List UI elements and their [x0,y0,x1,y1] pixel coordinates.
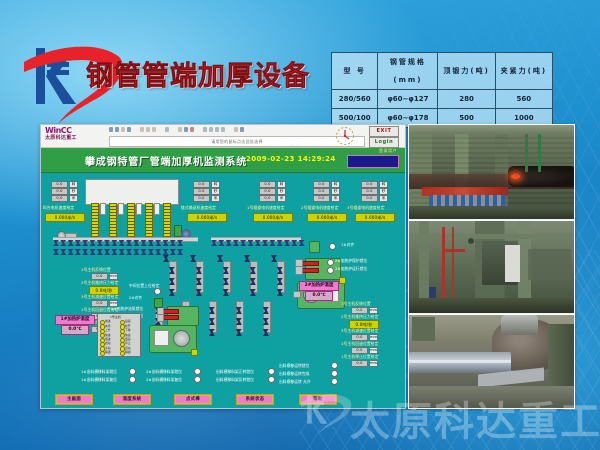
clamp-jaw [244,255,250,262]
table-row: 280/560 φ60~φ127 280 560 [332,90,553,109]
clamp-jaw [271,255,277,262]
roller [141,240,147,246]
readout-unit: 秒 [69,188,78,195]
readout-value: 0.0 [259,188,276,195]
param-unit: mm [369,334,378,341]
readout-value: 0.0 [259,195,276,202]
roller [111,240,117,246]
readout-value: 0.0 [313,188,330,195]
photo-column [408,124,573,407]
readout-value: 0.0 [361,181,378,188]
readout-unit: 米 [211,195,220,202]
kd-watermark-logo [300,387,356,439]
hmi-user-label: 登录用户 [379,148,397,154]
legend-label: 后退 [125,319,131,323]
status-lamp[interactable] [327,259,334,266]
roller-rail [53,237,198,242]
roller [104,249,110,255]
layer-icon[interactable] [209,127,213,132]
spec-col-pipe-size: 钢管规格(mm) [378,53,438,90]
status-lamp[interactable] [331,362,338,369]
readout-row: 0.0 秒 [51,188,78,195]
spec-col-clamp-force: 夹紧力(吨) [495,53,552,90]
legend-label: 前进 [105,319,111,323]
roller [133,240,139,246]
legend-label: 慢退 [125,337,131,341]
roller [177,249,183,255]
chain-column [127,203,135,237]
chain-column [91,203,99,237]
param-readout: 0.0 mm [351,347,378,354]
meter-setpoint[interactable]: 0.000米/s [253,213,293,222]
roller [60,249,66,255]
hmi-screenshot-panel: WinCC 太原科达重工 请用您的鼠标点击此处选择 EXIT Login [40,124,406,409]
param-unit: mm [109,273,118,280]
legend-label: 快退 [125,333,131,337]
param-value: 0.0 [91,273,108,280]
roller [97,240,103,246]
align-icon[interactable] [215,127,219,132]
button-point-rod[interactable]: 点式棒 [174,394,212,405]
wincc-toolbar: WinCC 太原科达重工 请用您的鼠标点击此处选择 EXIT Login [41,125,405,148]
heater-left-label: 1#加热炉温度 [55,315,95,325]
clamp-jaw [163,255,169,262]
roller [163,240,169,246]
press-dial [173,330,190,347]
roller [141,249,147,255]
meter-setpoint[interactable]: 0.000米/s [187,213,227,222]
roller [284,240,290,246]
readout-unit: 秒 [331,188,340,195]
lamp-label: 2#加热炉保护就位 [335,258,367,264]
lamp-label: 1#对齐 [341,242,354,248]
hmi-title-bar: 攀成钢特管厂管端加厚机监测系统 2009-02-23 14:29:24 登录用户 [41,148,405,173]
heater-head [157,314,164,322]
lamp-label: 2#出料横移料架复位 [146,377,182,383]
param-readout: 0.0 mm [351,307,378,314]
readout-row: 0.0 转 [361,181,388,188]
hmi-datetime: 2009-02-23 14:29:24 [246,155,336,163]
readout-unit: 米 [379,195,388,202]
roller [226,240,232,246]
watermark-text: 太原科达重工 [350,389,600,445]
roller [148,249,154,255]
valve-block [309,241,320,253]
heater-right-label: 2#加热炉温度 [299,281,339,291]
roller [269,240,275,246]
readout-row: 0.0 转 [313,181,340,188]
press-panel [154,330,169,346]
readout-unit: 米 [277,195,286,202]
roller [53,249,59,255]
chain-sensor [136,203,142,215]
roller [82,240,88,246]
roller [119,240,125,246]
status-lamp[interactable] [268,368,275,375]
readout-row: 0.0 转 [259,181,286,188]
readout-value: 0.0 [51,181,68,188]
roller [248,240,254,246]
watermark: 太原科达重工 [300,385,600,445]
cylinder-rod [209,301,217,333]
roller [233,240,239,246]
legend-label: 联锁 [105,350,111,354]
readout-value: 0.0 [361,188,378,195]
clamp-jaw [217,255,223,262]
lamp-label: 2#出料横移料架就位 [146,369,182,375]
meter-group-label: 1号辊道电机速度给定 [247,205,285,211]
readout-unit: 秒 [211,188,220,195]
hmi-mimic-diagram: 0.0 转 0.0 秒 0.0 米 料台电机速度给定 0.000米/s 0.0 [41,173,405,409]
button-system-status[interactable]: 系统状态 [236,394,274,405]
open-icon[interactable] [115,127,119,132]
lamp-label: 1#出料横移料架复位 [81,377,117,383]
readout-unit: 米 [331,195,340,202]
cylinder-rod [263,301,271,333]
roller [104,240,110,246]
param-value: 0.0 [351,307,368,314]
cylinder-rod [223,261,231,293]
readout-value: 0.0 [313,195,330,202]
wincc-brand: WinCC [45,126,105,135]
roller [68,240,74,246]
heater-right-value: 0.0℃ [305,291,333,301]
login-button[interactable]: Login [369,137,399,148]
roller [68,249,74,255]
readout-unit: 转 [211,181,220,188]
param-unit: mm [369,307,378,314]
button-main-screen[interactable]: 主画面 [55,394,93,405]
roller [163,249,169,255]
lamp-label: 出料横移运转就位 [279,363,309,369]
zoom-out-icon[interactable] [184,127,188,132]
lamp-label: 1#出料横移料架就位 [81,369,117,375]
status-lamp[interactable] [194,368,201,375]
spec-table-header-row: 型 号 钢管规格(mm) 顶锻力(吨) 夹紧力(吨) [332,53,553,90]
cylinder-rod [196,261,204,293]
roller [90,249,96,255]
param-value: 0.0 [91,300,108,307]
status-lamp[interactable] [331,370,338,377]
readout-value: 0.0 [193,195,210,202]
roller [155,249,161,255]
spec-col-model: 型 号 [332,53,378,90]
exit-button[interactable]: EXIT [369,126,399,137]
save-icon[interactable] [121,127,125,132]
undo-icon[interactable] [165,127,169,132]
button-temperature-system[interactable]: 温度系统 [113,394,151,405]
param-readout: 0.0 mm [351,334,378,341]
readout-row: 0.0 秒 [361,188,388,195]
roller [299,240,305,246]
roller [133,249,139,255]
status-lamp[interactable] [129,376,136,383]
roller [111,249,117,255]
wincc-logo: WinCC 太原科达重工 [45,126,105,146]
cylinder-rod [236,301,244,333]
legend-title: 1号主机 [110,315,121,319]
roller [262,240,268,246]
clamp-jaw [190,255,196,262]
status-lamp[interactable] [154,288,161,295]
legend-label: 手动 [105,346,111,350]
wincc-company: 太原科达重工 [45,135,105,142]
status-lamp[interactable] [327,267,334,274]
readout-value: 0.0 [259,181,276,188]
toolbar-hint-field[interactable]: 请用您的鼠标点击此处选择 [109,136,365,147]
roller [119,249,125,255]
readout-value: 0.0 [313,181,330,188]
legend-label: 慢进 [105,337,111,341]
readout-row: 0.0 转 [51,181,78,188]
param-value: 0.0 [351,347,368,354]
readout-unit: 转 [69,181,78,188]
roller [75,240,81,246]
status-lamp[interactable] [194,376,201,383]
cylinder-rod [169,261,177,293]
legend-label: 松开 [125,324,131,328]
readout-value: 0.0 [361,195,378,202]
heater-head [295,266,303,275]
param-unit: mm [109,300,118,307]
roller [126,249,132,255]
readout-unit: 转 [379,181,388,188]
new-icon[interactable] [109,127,113,132]
toolbar-icon-strip[interactable] [109,127,325,135]
meter-setpoint[interactable]: 0.000米/s [45,213,85,222]
legend-label: 启动 [105,341,111,345]
legend-label: 解锁 [125,350,131,354]
readout-row: 0.0 米 [259,195,286,202]
roller [90,240,96,246]
grid-icon[interactable] [203,127,207,132]
press-ram [293,291,301,298]
meter-group-label: 3号辊道电机速度给定 [347,205,385,211]
legend-label: 自动 [125,346,131,350]
meter-setpoint[interactable]: 0.000米/s [355,213,395,222]
lamp-label: 出料横移料架反转就位 [216,377,254,383]
copy-icon[interactable] [146,127,150,132]
param-unit: mm [369,360,378,367]
status-lamp[interactable] [129,368,136,375]
readout-unit: 转 [277,181,286,188]
meter-group-label: 2号辊道电机速度给定 [301,205,339,211]
param-value: 0.0 [351,360,368,367]
chain-sensor [100,203,106,215]
alarm-icon[interactable] [190,127,194,132]
operator-legend-panel: 1号主机 前进后退夹紧松开上升下降快进快退慢进慢退启动停止手动自动联锁解锁 [97,313,141,357]
legend-label: 夹紧 [105,324,111,328]
cylinder-rod [277,261,285,293]
readout-value: 0.0 [193,188,210,195]
roller [126,240,132,246]
slide-root: 钢管管端加厚设备 型 号 钢管规格(mm) 顶锻力(吨) 夹紧力(吨) 280/… [0,0,600,450]
readout-unit: 米 [69,195,78,202]
roller [177,240,183,246]
toolbar-hint-text: 请用您的鼠标点击此处选择 [110,137,364,146]
runtime-icon[interactable] [240,127,244,132]
param-readout: 0.0 mm [91,273,118,280]
page-title: 钢管管端加厚设备 [86,56,336,98]
cell-model: 280/560 [332,90,378,109]
readout-row: 0.0 米 [193,195,220,202]
readout-row: 0.0 转 [193,181,220,188]
cooling-bed-table [85,179,179,205]
roller [255,240,261,246]
roller [240,240,246,246]
valve-block [154,298,163,308]
roller [155,240,161,246]
press-indicator [191,349,198,356]
readout-row: 0.0 秒 [313,188,340,195]
spec-table: 型 号 钢管规格(mm) 顶锻力(吨) 夹紧力(吨) 280/560 φ60~φ… [331,52,553,128]
param-value: 0.0 [351,334,368,341]
legend-label: 停止 [125,341,131,345]
heater-right-unit: ℃ [320,293,325,298]
lamp-label: 2#加热炉运行就位 [335,266,367,272]
status-lamp[interactable] [331,378,338,385]
heater-left-unit: ℃ [76,327,81,332]
roller [75,249,81,255]
cell-clamp-force: 560 [495,90,552,109]
readout-row: 0.0 米 [313,195,340,202]
analog-clock-icon [333,126,357,146]
roller [53,240,59,246]
roller [60,240,66,246]
readout-row: 0.0 秒 [259,188,286,195]
legend-label: 快进 [105,333,111,337]
roller [82,249,88,255]
cut-icon[interactable] [140,127,144,132]
readout-row: 0.0 米 [361,195,388,202]
legend-label: 下降 [125,328,131,332]
chain-column [109,203,117,237]
hmi-title: 攀成钢特管厂管端加厚机监测系统 [85,153,247,168]
readout-unit: 秒 [379,188,388,195]
press-indicator [339,277,346,284]
param-readout: 0.0 mm [91,300,118,307]
param-unit: mm [369,347,378,354]
chain-sensor [118,203,124,215]
roller [218,240,224,246]
readout-unit: 秒 [277,188,286,195]
zoom-in-icon[interactable] [178,127,182,132]
readout-value: 0.0 [51,195,68,202]
meter-setpoint[interactable]: 0.000米/s [307,213,347,222]
properties-icon[interactable] [234,127,238,132]
param-readout: 0.0 mm [351,360,378,367]
roller [170,240,176,246]
roller [170,249,176,255]
roller [291,240,297,246]
meter-group-label: 料台电机速度给定 [43,205,74,211]
readout-value: 0.0 [51,188,68,195]
meter-group-label: 链式输送机速度给定 [181,205,216,211]
status-lamp[interactable] [329,243,336,250]
header: 钢管管端加厚设备 型 号 钢管规格(mm) 顶锻力(吨) 夹紧力(吨) 280/… [0,0,600,120]
chain-column [163,203,171,237]
readout-unit: 转 [331,181,340,188]
photo-production-line [408,124,575,220]
lamp-label: 出料横移料架正转就位 [216,369,254,375]
chain-column [145,203,153,237]
print-icon[interactable] [127,127,131,132]
cylinder-rod [250,261,258,293]
chain-sensor [154,203,160,215]
roller [148,240,154,246]
photo-upsetting-press [408,220,575,314]
spec-col-upset-force: 顶锻力(吨) [438,53,495,90]
cell-pipe-size: φ60~φ127 [378,90,438,109]
legend-label: 上升 [105,328,111,332]
status-lamp[interactable] [268,376,275,383]
roller [97,249,103,255]
hmi-user-field[interactable] [347,155,399,168]
roller [211,240,217,246]
readout-value: 0.0 [193,181,210,188]
roller [277,240,283,246]
readout-row: 0.0 秒 [193,188,220,195]
heater-left-value: 0.0℃ [61,325,89,335]
paste-icon[interactable] [152,127,156,132]
marker-label: 2#对齐 [129,295,142,301]
group-icon[interactable] [221,127,225,132]
cell-upset-force: 280 [438,90,495,109]
lamp-label: 出料横移运转完成 [279,371,309,377]
readout-row: 0.0 米 [51,195,78,202]
